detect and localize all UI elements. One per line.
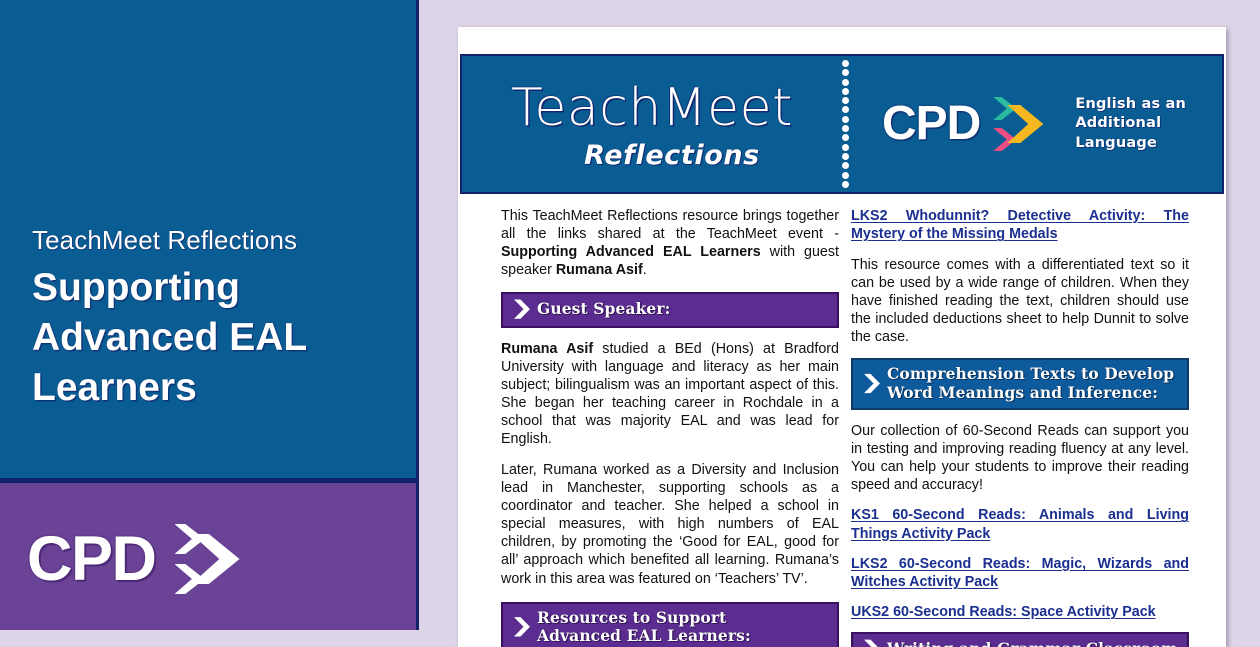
cpd-chevron-group-icon: [165, 520, 243, 598]
link-uks2-60-second-reads[interactable]: UKS2 60-Second Reads: Space Activity Pac…: [851, 603, 1189, 621]
section-heading-line-1: Comprehension Texts to Develop: [887, 364, 1174, 383]
bio-paragraph-1: Rumana Asif studied a BEd (Hons) at Brad…: [501, 340, 839, 449]
chevron-large-icon: [192, 534, 240, 584]
section-heading-line-2: Advanced EAL Learners:: [537, 626, 751, 645]
document-header-banner: TeachMeet Reflections CPD: [460, 54, 1224, 194]
intro-part-1: This TeachMeet Reflections resource brin…: [501, 208, 839, 242]
tagline-line-2: Additional Language: [1075, 115, 1161, 150]
document-page: TeachMeet Reflections CPD: [458, 27, 1226, 647]
left-sidebar: TeachMeet Reflections Supporting Advance…: [0, 0, 419, 630]
chevron-right-icon: [863, 373, 880, 394]
screenshot-root: TeachMeet Reflections Supporting Advance…: [0, 0, 1260, 630]
intro-paragraph: This TeachMeet Reflections resource brin…: [501, 207, 839, 280]
chevron-right-icon: [513, 299, 530, 320]
section-heading-line-2: Word Meanings and Inference:: [887, 383, 1158, 402]
banner-title: TeachMeet: [511, 82, 793, 134]
banner-tagline: English as an Additional Language: [1075, 95, 1222, 152]
document-columns: This TeachMeet Reflections resource brin…: [501, 207, 1189, 647]
whodunnit-body: This resource comes with a differentiate…: [851, 256, 1189, 347]
section-heading-writing-grammar: Writing and Grammar Classroom: [851, 632, 1189, 647]
link-lks2-60-second-reads[interactable]: LKS2 60-Second Reads: Magic, Wizards and…: [851, 555, 1189, 592]
banner-cpd-logo: CPD: [882, 95, 1045, 153]
chevron-right-icon: [863, 639, 880, 647]
left-column: This TeachMeet Reflections resource brin…: [501, 207, 839, 647]
cpd-chevron-group-icon: [987, 95, 1045, 153]
section-heading-guest-speaker: Guest Speaker:: [501, 292, 839, 328]
section-heading-label: Comprehension Texts to Develop Word Mean…: [887, 365, 1174, 401]
sidebar-kicker: TeachMeet Reflections: [32, 225, 402, 256]
right-column: LKS2 Whodunnit? Detective Activity: The …: [851, 207, 1189, 647]
cpd-wordmark: CPD: [27, 528, 156, 591]
tagline-line-1: English as an: [1075, 96, 1186, 112]
banner-logo-block: CPD English as an Additional Language: [842, 56, 1222, 192]
sidebar-title: Supporting Advanced EAL Learners: [32, 263, 392, 413]
chevron-large-icon: [1007, 105, 1043, 143]
comprehension-body: Our collection of 60-Second Reads can su…: [851, 422, 1189, 495]
chevron-right-icon: [513, 616, 530, 637]
section-heading-line-1: Resources to Support: [537, 608, 726, 627]
bio-speaker-name: Rumana Asif: [501, 341, 593, 357]
intro-part-3: .: [643, 262, 647, 278]
link-whodunnit[interactable]: LKS2 Whodunnit? Detective Activity: The …: [851, 207, 1189, 244]
bio-paragraph-2: Later, Rumana worked as a Diversity and …: [501, 461, 839, 588]
section-heading-label: Writing and Grammar Classroom: [887, 640, 1178, 647]
intro-bold-1: Supporting Advanced EAL Learners: [501, 244, 761, 260]
section-heading-label: Resources to Support Advanced EAL Learne…: [537, 609, 751, 645]
banner-dotted-divider: [840, 60, 851, 188]
sidebar-cpd-logo: CPD: [27, 520, 243, 598]
banner-title-block: TeachMeet Reflections: [462, 56, 842, 192]
section-heading-comprehension: Comprehension Texts to Develop Word Mean…: [851, 358, 1189, 409]
section-heading-label: Guest Speaker:: [537, 300, 670, 318]
link-ks1-60-second-reads[interactable]: KS1 60-Second Reads: Animals and Living …: [851, 506, 1189, 543]
intro-bold-2: Rumana Asif: [556, 262, 643, 278]
cpd-wordmark: CPD: [882, 100, 980, 148]
banner-subtitle: Reflections: [584, 140, 760, 171]
section-heading-resources: Resources to Support Advanced EAL Learne…: [501, 602, 839, 647]
